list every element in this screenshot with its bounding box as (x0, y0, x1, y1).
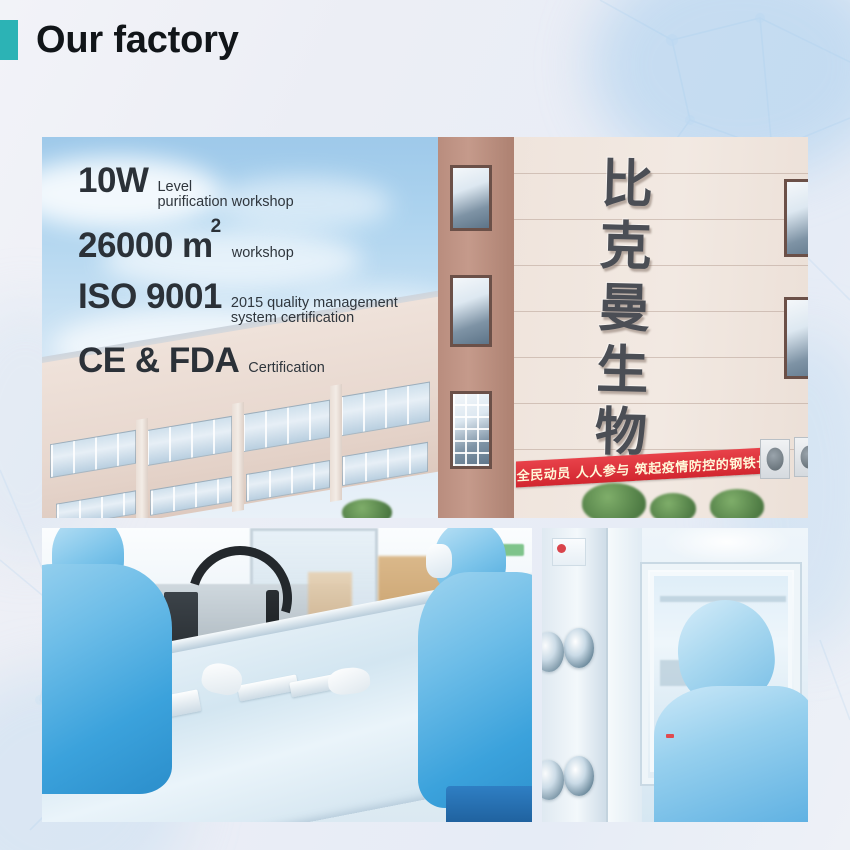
stat-value-text: ISO 9001 (78, 277, 222, 316)
indicator-light (666, 734, 674, 738)
stat-row: 10W Level purification workshop (78, 163, 398, 212)
facade-seam (514, 311, 808, 312)
tree (342, 499, 392, 518)
factory-building-photo: 比 克 曼 生 物 全民动员 人人参与 筑起疫情防控的钢铁长城 (42, 137, 808, 518)
facade-seam (514, 403, 808, 404)
section-heading: Our factory (0, 16, 239, 64)
factory-stats-overlay: 10W Level purification workshop 26000 m2… (78, 163, 398, 378)
stat-description: Level purification workshop (157, 180, 293, 211)
ac-unit (794, 437, 808, 477)
stat-description: 2015 quality management system certifica… (231, 296, 398, 327)
tower-window (784, 297, 808, 379)
page-title: Our factory (36, 21, 239, 59)
tree (650, 493, 696, 518)
tower-window (450, 275, 492, 347)
tower-window (784, 179, 808, 257)
stat-description: Certification (248, 361, 325, 376)
air-shower-photo (542, 528, 808, 822)
sign-character: 生 (596, 344, 649, 397)
facade-pilaster (232, 402, 244, 512)
ceiling-light-glow (662, 528, 792, 564)
stat-value-text: 10W (78, 161, 148, 200)
facade-pilaster (330, 384, 342, 502)
sign-character: 克 (599, 220, 652, 273)
stat-row: 26000 m2 workshop (78, 228, 398, 263)
facade-pilaster (136, 418, 148, 518)
air-shower-side-panel-inner (608, 528, 642, 822)
facade-seam (514, 357, 808, 358)
air-nozzle (564, 628, 594, 668)
air-nozzle (564, 756, 594, 796)
tower-window (450, 391, 492, 469)
accent-bar (0, 20, 18, 60)
control-panel-label (552, 538, 586, 566)
tree (582, 483, 646, 518)
stat-value-text: 26000 m (78, 226, 213, 265)
stat-superscript: 2 (211, 216, 221, 237)
stat-row: CE & FDA Certification (78, 343, 398, 378)
building-chinese-sign: 比 克 曼 生 物 (583, 158, 664, 460)
stat-value: ISO 9001 (78, 279, 222, 314)
sign-character: 物 (594, 406, 647, 459)
stat-value-text: CE & FDA (78, 341, 239, 380)
sign-character: 比 (600, 158, 653, 211)
worker-stool (446, 786, 532, 822)
stat-row: ISO 9001 2015 quality management system … (78, 279, 398, 328)
worker-mask (426, 544, 452, 578)
stat-value: 26000 m2 (78, 228, 223, 263)
tower-window (450, 165, 492, 231)
production-line-photo (42, 528, 532, 822)
ac-unit (760, 439, 790, 479)
stat-value: 10W (78, 163, 148, 198)
production-line-scene (42, 528, 532, 822)
stat-value: CE & FDA (78, 343, 239, 378)
worker-body (654, 686, 808, 822)
factory-section-page: Our factory (0, 0, 850, 850)
tree (710, 489, 764, 518)
stat-description: workshop (232, 246, 294, 261)
sign-character: 曼 (597, 282, 650, 335)
air-shower-scene (542, 528, 808, 822)
